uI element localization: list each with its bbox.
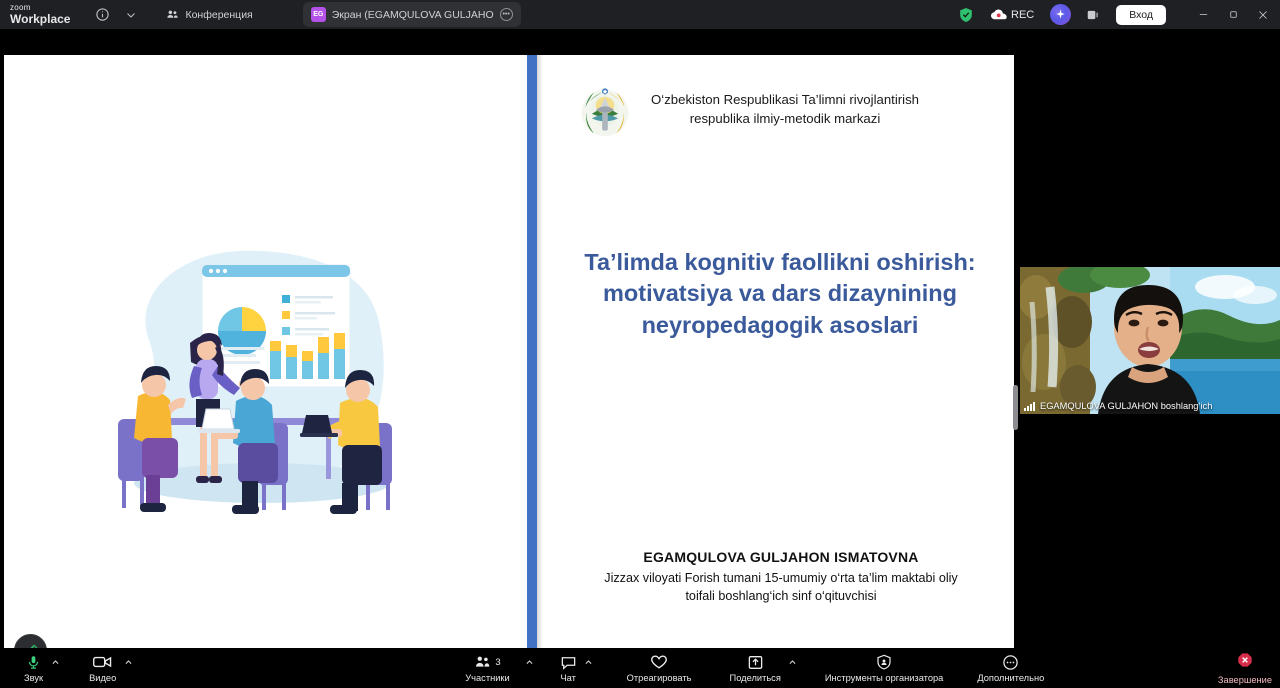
toolbar-audio-button[interactable]: Звук (18, 653, 49, 683)
toolbar-audio-caret[interactable] (49, 654, 61, 682)
toolbar-host-tools-button[interactable]: Инструменты организатора (819, 653, 949, 683)
participants-icon (166, 8, 179, 21)
toolbar-video-label: Видео (89, 673, 116, 683)
slide-title-line-2: motivatsiya va dars dizaynining (603, 280, 957, 306)
chevron-down-icon[interactable] (122, 6, 140, 24)
titlebar-right-controls: REC Вход (955, 0, 1280, 29)
recording-label: REC (1011, 9, 1034, 21)
toolbar-share-label: Поделиться (730, 673, 781, 683)
slide-org-header: O‘zbekiston Respublikasi Ta’limni rivojl… (577, 83, 997, 139)
org-header-line-1: O‘zbekiston Respublikasi Ta’limni rivojl… (651, 92, 919, 107)
react-control-group: Отреагировать (621, 653, 698, 683)
toolbar-end-meeting-label: Завершение (1218, 675, 1272, 685)
slide-title-line-1: Ta’limda kognitiv faollikni oshirish: (584, 249, 975, 275)
avatar: EG (311, 7, 326, 22)
login-button[interactable]: Вход (1116, 5, 1166, 25)
toolbar-chat-label: Чат (560, 673, 575, 683)
shared-screen-area: O‘zbekiston Respublikasi Ta’limni rivojl… (0, 55, 1014, 648)
brand-line-2: Workplace (10, 13, 70, 25)
toolbar-more-button[interactable]: Дополнительно (971, 653, 1050, 683)
host-tools-shield-icon (876, 653, 892, 671)
toolbar-participants-caret[interactable] (524, 654, 536, 682)
toolbar-share-button[interactable]: Поделиться (724, 653, 787, 683)
toolbar-audio-label: Звук (24, 673, 43, 683)
business-meeting-illustration (90, 233, 430, 523)
video-tile-participant-name: EGAMQULOVA GULJAHON boshlang‘ich (1040, 401, 1212, 411)
meeting-stage: O‘zbekiston Respublikasi Ta’limni rivojl… (0, 29, 1280, 648)
recording-indicator[interactable]: REC (991, 9, 1034, 21)
shield-check-icon[interactable] (955, 4, 977, 26)
slide-content: O‘zbekiston Respublikasi Ta’limni rivojl… (543, 55, 1014, 648)
slide-org-header-text: O‘zbekiston Respublikasi Ta’limni rivojl… (651, 83, 919, 128)
presenter-role-line-2: toifali boshlang‘ich sinf o‘qituvchisi (685, 589, 876, 603)
audio-control-group: Звук (18, 653, 61, 683)
tab-screen-share[interactable]: EG Экран (EGAMQULOVA GULJAHO ••• (303, 2, 521, 27)
end-meeting-icon (1237, 652, 1253, 673)
tab-conference[interactable]: Конференция (158, 2, 260, 27)
toolbar-video-caret[interactable] (122, 654, 134, 682)
video-tile-name-badge: EGAMQULOVA GULJAHON boshlang‘ich (1024, 401, 1212, 411)
share-control-group: Поделиться (724, 653, 799, 683)
participants-icon: 3 (474, 653, 500, 671)
window-tab-bar: Конференция EG Экран (EGAMQULOVA GULJAHO… (158, 0, 520, 29)
presenter-role: Jizzax viloyati Forish tumani 15-umumiy … (553, 569, 1009, 606)
toolbar-share-caret[interactable] (787, 654, 799, 682)
slide-scrollbar[interactable] (1013, 385, 1018, 430)
participants-control-group: 3 Участники (459, 653, 535, 683)
toolbar-chat-caret[interactable] (583, 654, 595, 682)
chat-control-group: Чат (554, 653, 595, 683)
tab-conference-label: Конференция (185, 9, 252, 21)
presentation-slide: O‘zbekiston Respublikasi Ta’limni rivojl… (4, 55, 1014, 648)
ai-companion-icon[interactable] (1050, 4, 1071, 25)
tab-screen-share-label: Экран (EGAMQULOVA GULJAHO (332, 9, 494, 21)
title-bar: zoom Workplace Конференция EG Экран (EGA… (0, 0, 1280, 29)
org-header-line-2: respublika ilmiy-metodik markazi (690, 111, 881, 126)
slide-presenter-block: EGAMQULOVA GULJAHON ISMATOVNA Jizzax vil… (553, 549, 1009, 606)
video-control-group: Видео (83, 653, 134, 683)
slide-divider (527, 55, 537, 648)
maximize-icon[interactable] (1218, 0, 1248, 29)
share-screen-icon (747, 653, 764, 671)
toolbar-video-button[interactable]: Видео (83, 653, 122, 683)
toolbar-participants-button[interactable]: 3 Участники (459, 653, 515, 683)
recording-cloud-icon (991, 9, 1007, 21)
microphone-icon (26, 653, 41, 671)
toolbar-react-label: Отреагировать (627, 673, 692, 683)
presenter-role-line-1: Jizzax viloyati Forish tumani 15-umumiy … (604, 571, 957, 585)
meeting-toolbar: Звук Видео (0, 648, 1280, 688)
toolbar-participants-label: Участники (465, 673, 509, 683)
presenter-name: EGAMQULOVA GULJAHON ISMATOVNA (553, 549, 1009, 565)
signal-bars-icon (1024, 402, 1035, 411)
more-control-group: Дополнительно (971, 653, 1050, 683)
more-dots-icon (1002, 653, 1019, 671)
toolbar-chat-button[interactable]: Чат (554, 653, 583, 683)
toolbar-end-meeting-button[interactable]: Завершение (1218, 648, 1272, 688)
close-icon[interactable] (1248, 0, 1278, 29)
participants-count: 3 (495, 657, 500, 668)
minimize-icon[interactable] (1188, 0, 1218, 29)
camera-icon (93, 653, 112, 671)
chat-bubble-icon (560, 653, 577, 671)
info-circle-icon[interactable] (92, 5, 112, 25)
heart-icon (650, 653, 668, 671)
slide-title-line-3: neyropedagogik asoslari (642, 312, 919, 338)
more-dots-icon[interactable]: ••• (500, 8, 513, 21)
participant-video-tile[interactable]: EGAMQULOVA GULJAHON boshlang‘ich (1020, 267, 1280, 414)
toolbar-host-tools-label: Инструменты организатора (825, 673, 943, 683)
slide-title: Ta’limda kognitiv faollikni oshirish: mo… (557, 247, 1003, 341)
zoom-logo: zoom Workplace (10, 4, 70, 25)
host-tools-group: Инструменты организатора (819, 653, 949, 683)
toolbar-react-button[interactable]: Отреагировать (621, 653, 698, 683)
brand-line-1: zoom (10, 4, 70, 12)
uzbekistan-coat-of-arms-icon (577, 83, 633, 139)
toolbar-more-label: Дополнительно (977, 673, 1044, 683)
side-panel-icon[interactable] (1084, 6, 1102, 24)
